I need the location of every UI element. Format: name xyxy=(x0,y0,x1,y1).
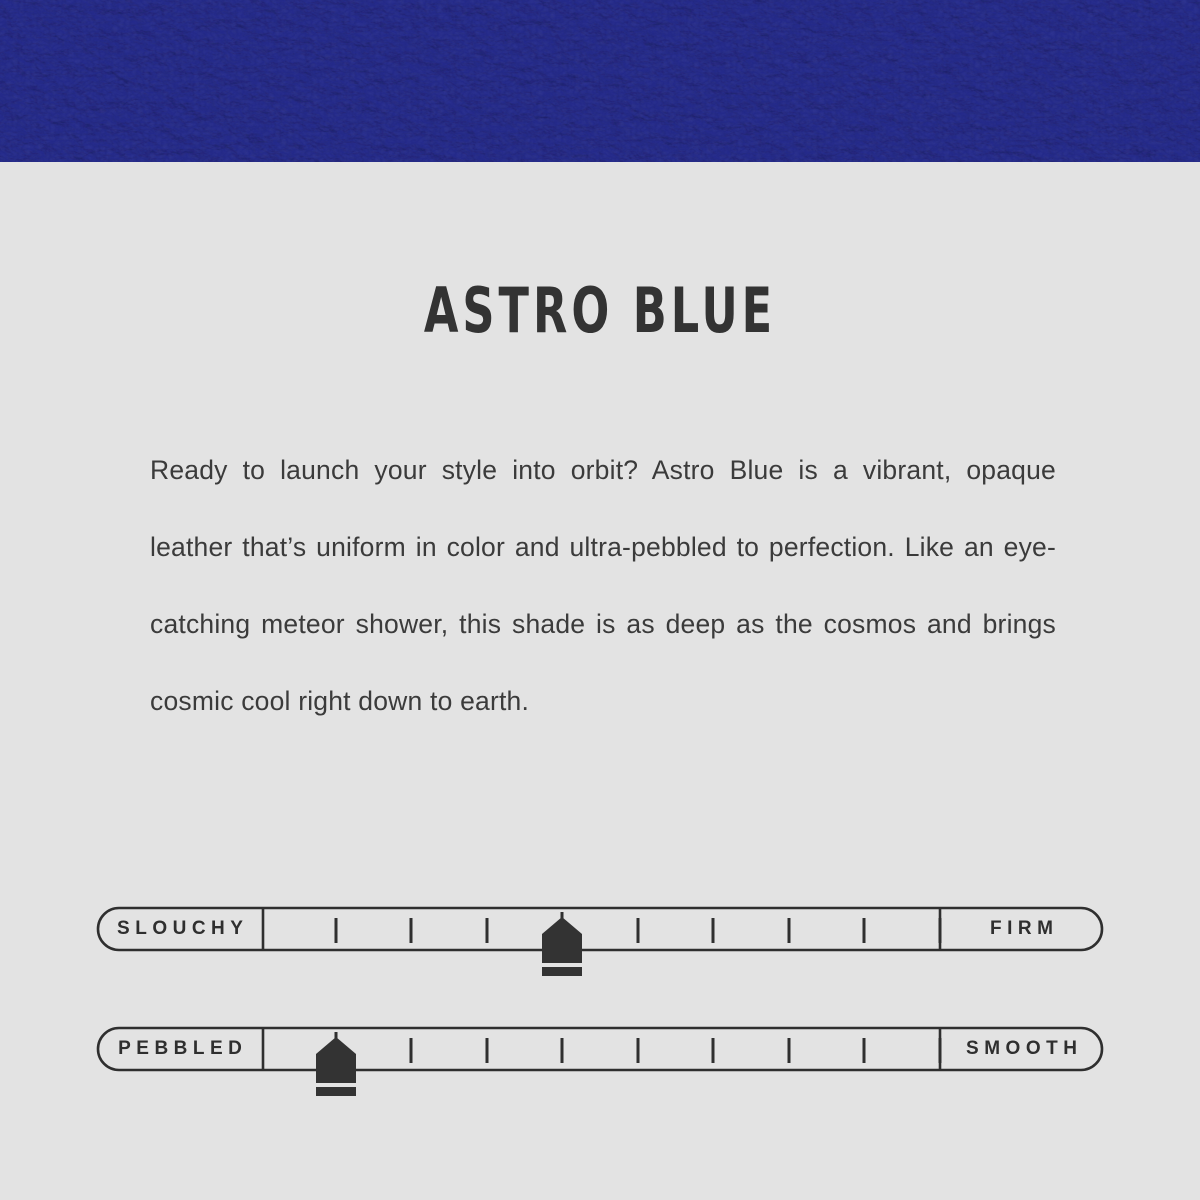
slider-firmness-marker[interactable] xyxy=(542,917,582,976)
slider-texture-right-label: SMOOTH xyxy=(940,1027,1103,1071)
product-description: Ready to launch your style into orbit? A… xyxy=(150,432,1056,740)
product-swatch-card: ASTRO BLUE Ready to launch your style in… xyxy=(0,0,1200,1200)
slider-ticks xyxy=(336,912,940,943)
marker-pointer xyxy=(542,917,582,963)
marker-base-bar xyxy=(542,967,582,976)
description-text: Ready to launch your style into orbit? A… xyxy=(150,432,1056,740)
slider-texture-left-label: PEBBLED xyxy=(97,1027,263,1071)
marker-pointer xyxy=(316,1037,356,1083)
slider-firmness[interactable]: SLOUCHY FIRM xyxy=(97,907,1103,951)
slider-texture-marker[interactable] xyxy=(316,1037,356,1096)
slider-firmness-right-label: FIRM xyxy=(940,907,1103,951)
slider-texture[interactable]: PEBBLED SMOOTH xyxy=(97,1027,1103,1071)
leather-texture-graphic xyxy=(0,0,1200,162)
slider-firmness-left-label: SLOUCHY xyxy=(97,907,263,951)
page-title: ASTRO BLUE xyxy=(120,280,1080,342)
leather-swatch-band xyxy=(0,0,1200,162)
slider-ticks xyxy=(336,1032,940,1063)
marker-base-bar xyxy=(316,1087,356,1096)
